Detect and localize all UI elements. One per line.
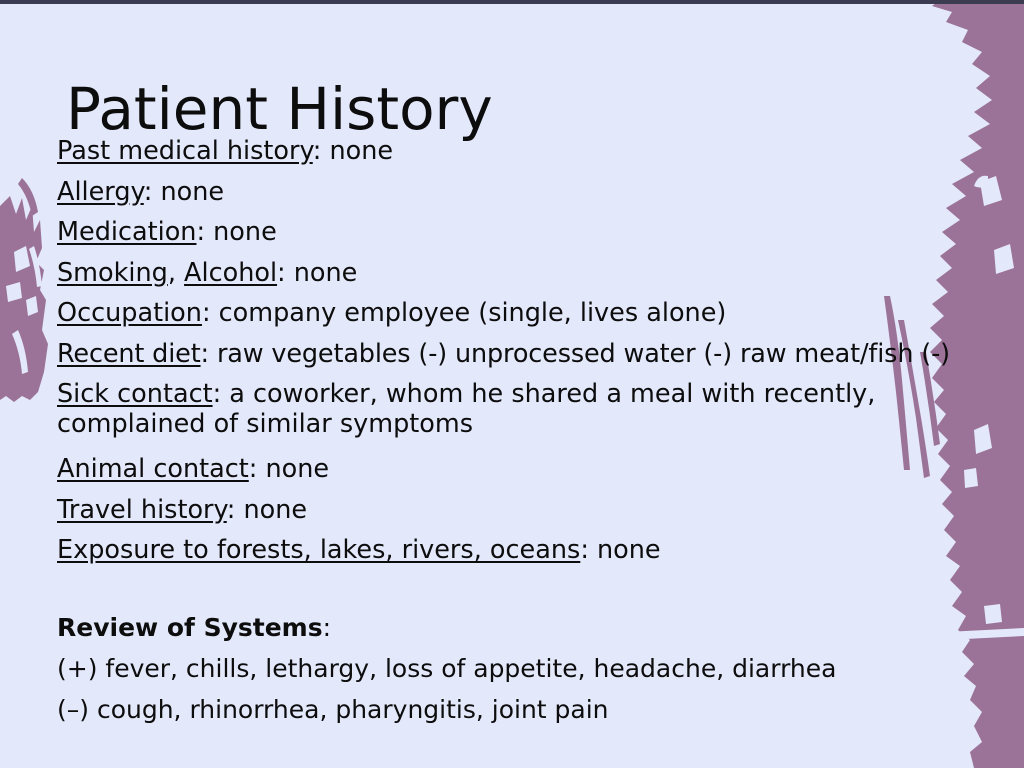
- review-of-systems-positive: (+) fever, chills, lethargy, loss of app…: [57, 648, 836, 689]
- history-label: Occupation: [57, 298, 202, 328]
- history-label: Medication: [57, 217, 196, 247]
- history-value: : none: [580, 535, 660, 565]
- history-label: Animal contact: [57, 454, 249, 484]
- history-label: Travel history: [57, 495, 227, 525]
- history-label: Recent diet: [57, 339, 201, 369]
- history-value-continued: complained of similar symptoms: [57, 409, 1002, 439]
- history-value: : raw vegetables (-) unprocessed water (…: [201, 339, 950, 369]
- history-item-recent-diet: Recent diet: raw vegetables (-) unproces…: [57, 334, 1002, 375]
- history-item-medication: Medication: none: [57, 212, 1002, 253]
- history-value: : none: [144, 177, 224, 207]
- history-item-sick-contact: Sick contact: a coworker, whom he shared…: [57, 379, 1002, 439]
- history-item-allergy: Allergy: none: [57, 172, 1002, 213]
- history-label: Past medical history: [57, 136, 313, 166]
- history-item-smoking-alcohol: Smoking, Alcohol: none: [57, 253, 1002, 294]
- history-label: Smoking: [57, 258, 168, 288]
- review-of-systems-heading-colon: :: [323, 613, 331, 642]
- review-of-systems-heading-text: Review of Systems: [57, 613, 323, 642]
- history-label: Exposure to forests, lakes, rivers, ocea…: [57, 535, 580, 565]
- patient-history-list: Past medical history: none Allergy: none…: [57, 131, 1002, 571]
- top-border-rule: [0, 0, 1024, 4]
- history-item-animal-contact: Animal contact: none: [57, 449, 1002, 490]
- history-value: : none: [277, 258, 357, 288]
- review-of-systems-negative: (–) cough, rhinorrhea, pharyngitis, join…: [57, 689, 836, 730]
- history-label-secondary: Alcohol: [184, 258, 277, 288]
- review-of-systems-section: Review of Systems: (+) fever, chills, le…: [57, 607, 836, 730]
- history-label: Sick contact: [57, 379, 213, 409]
- history-label-separator: ,: [168, 258, 184, 288]
- history-label: Allergy: [57, 177, 144, 207]
- history-value: : none: [196, 217, 276, 247]
- history-item-past-medical-history: Past medical history: none: [57, 131, 1002, 172]
- history-value: : none: [227, 495, 307, 525]
- history-item-travel-history: Travel history: none: [57, 490, 1002, 531]
- history-value: : a coworker, whom he shared a meal with…: [213, 379, 876, 409]
- history-item-occupation: Occupation: company employee (single, li…: [57, 293, 1002, 334]
- review-of-systems-heading: Review of Systems:: [57, 607, 836, 648]
- history-value: : company employee (single, lives alone): [202, 298, 726, 328]
- slide-canvas: Patient History Past medical history: no…: [0, 0, 1024, 768]
- history-value: : none: [249, 454, 329, 484]
- history-value: : none: [313, 136, 393, 166]
- history-item-exposure: Exposure to forests, lakes, rivers, ocea…: [57, 530, 1002, 571]
